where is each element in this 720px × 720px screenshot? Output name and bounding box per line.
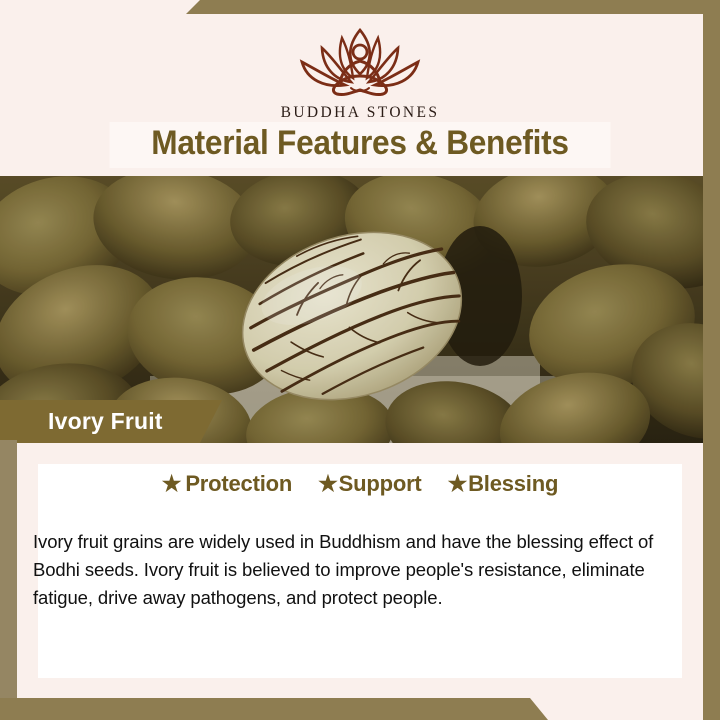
left-frame-strip: [0, 440, 17, 720]
photo-label-banner: Ivory Fruit: [0, 400, 222, 443]
benefits-list: ★ Protection ★ Support ★ Blessing: [38, 471, 682, 497]
header: BUDDHA STONES Material Features & Benefi…: [17, 0, 703, 176]
star-icon: ★: [162, 473, 182, 495]
benefit-item-blessing: ★ Blessing: [448, 471, 559, 497]
benefit-item-support: ★ Support: [318, 471, 421, 497]
poster-root: Ivory Fruit BUDDHA STONES: [0, 0, 720, 720]
right-frame-strip: [703, 0, 720, 720]
description-text: Ivory fruit grains are widely used in Bu…: [33, 528, 681, 612]
star-icon: ★: [318, 473, 338, 495]
brand-name: BUDDHA STONES: [281, 104, 440, 122]
photo-label-text: Ivory Fruit: [0, 408, 163, 435]
benefit-label: Protection: [185, 471, 292, 497]
content-panel: ★ Protection ★ Support ★ Blessing Ivory …: [38, 443, 682, 678]
page-title-text: Material Features & Benefits: [151, 124, 568, 163]
bottom-frame-band: [0, 698, 720, 720]
star-icon: ★: [448, 473, 468, 495]
benefit-label: Blessing: [468, 471, 558, 497]
benefit-item-protection: ★ Protection: [162, 471, 292, 497]
panel-top-accent: [38, 443, 682, 464]
lotus-meditation-icon: [285, 22, 435, 102]
page-title: Material Features & Benefits: [110, 122, 611, 168]
brand-logo: BUDDHA STONES: [17, 22, 703, 122]
benefit-label: Support: [339, 471, 422, 497]
